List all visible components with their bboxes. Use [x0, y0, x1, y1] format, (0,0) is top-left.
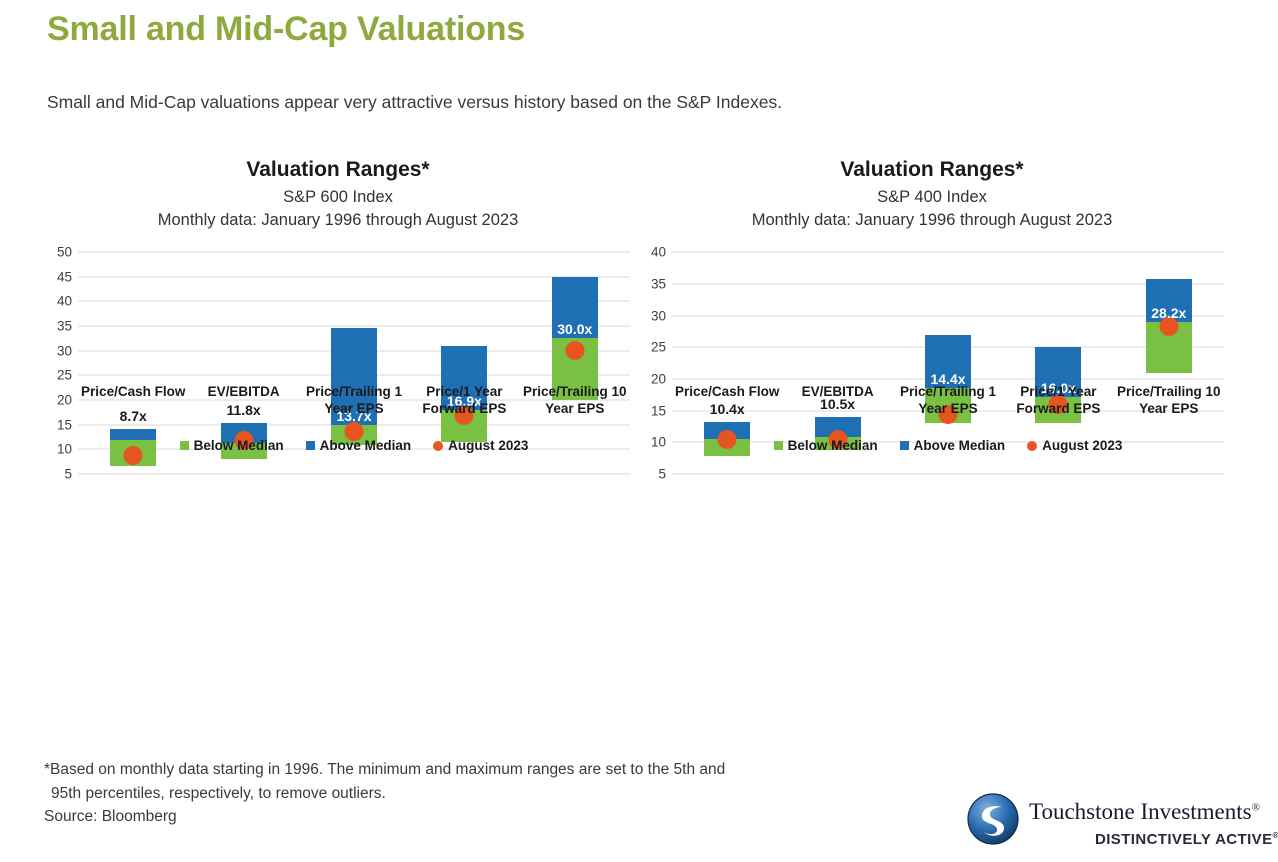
x-axis-label-line: Year EPS	[299, 401, 409, 418]
x-axis-category-label: Price/1 YearForward EPS	[1003, 384, 1113, 418]
legend-square-icon	[180, 441, 189, 450]
x-axis-label-line: Price/Cash Flow	[78, 384, 188, 401]
x-axis-label-line: Year EPS	[1114, 401, 1224, 418]
x-axis-label-line: Price/1 Year	[1003, 384, 1113, 401]
legend-label: Above Median	[914, 438, 1006, 453]
chart-panel-sp600: Valuation Ranges* S&P 600 Index Monthly …	[38, 158, 638, 568]
brand-name-text: Touchstone Investments	[1029, 799, 1252, 824]
y-axis-tick: 20	[651, 371, 666, 386]
y-axis-tick: 15	[651, 403, 666, 418]
x-axis-category-label: Price/1 YearForward EPS	[409, 384, 519, 418]
x-axis-label-line: Price/Trailing 1	[299, 384, 409, 401]
y-axis: 403530252015105	[632, 252, 666, 474]
chart-subtitle-period: Monthly data: January 1996 through Augus…	[632, 211, 1232, 230]
legend-item[interactable]: Above Median	[900, 438, 1006, 453]
touchstone-logo-icon	[967, 793, 1019, 845]
legend-square-icon	[900, 441, 909, 450]
brand-tagline-registered-mark: ®	[1272, 831, 1278, 840]
x-axis-label-line: Price/Cash Flow	[672, 384, 782, 401]
y-axis-tick: 30	[651, 308, 666, 323]
x-axis-label-line: Year EPS	[893, 401, 1003, 418]
chart-legend: Below MedianAbove MedianAugust 2023	[78, 438, 630, 453]
legend-item[interactable]: August 2023	[433, 438, 528, 453]
slide-canvas: Small and Mid-Cap Valuations Small and M…	[0, 0, 1278, 862]
chart-subtitle-index: S&P 400 Index	[632, 188, 1232, 207]
brand-tagline-text: DISTINCTIVELY ACTIVE	[1095, 831, 1272, 848]
chart-legend: Below MedianAbove MedianAugust 2023	[672, 438, 1224, 453]
chart-title: Valuation Ranges*	[632, 158, 1232, 181]
legend-square-icon	[306, 441, 315, 450]
y-axis-tick: 50	[57, 245, 72, 260]
x-axis-label-line: Forward EPS	[409, 401, 519, 418]
x-axis-category-label: Price/Trailing 10Year EPS	[1114, 384, 1224, 418]
legend-label: Above Median	[320, 438, 412, 453]
brand-lockup: Touchstone Investments® DISTINCTIVELY AC…	[967, 793, 1247, 855]
legend-label: August 2023	[448, 438, 528, 453]
y-axis-tick: 40	[57, 294, 72, 309]
x-axis-category-label: EV/EBITDA	[188, 384, 298, 401]
y-axis: 5045403530252015105	[38, 252, 72, 474]
y-axis-tick: 5	[658, 467, 666, 482]
x-axis-label-line: EV/EBITDA	[782, 384, 892, 401]
footnote: *Based on monthly data starting in 1996.…	[44, 758, 725, 806]
x-axis-label-line: EV/EBITDA	[188, 384, 298, 401]
brand-name-registered-mark: ®	[1252, 801, 1260, 813]
x-axis-labels: Price/Cash FlowEV/EBITDAPrice/Trailing 1…	[672, 384, 1224, 432]
x-axis-category-label: EV/EBITDA	[782, 384, 892, 401]
y-axis-tick: 15	[57, 417, 72, 432]
y-axis-tick: 30	[57, 343, 72, 358]
brand-tagline: DISTINCTIVELY ACTIVE®	[1095, 831, 1278, 848]
chart-panel-sp400: Valuation Ranges* S&P 400 Index Monthly …	[632, 158, 1232, 568]
y-axis-tick: 10	[57, 442, 72, 457]
y-axis-tick: 35	[57, 319, 72, 334]
bar-data-label: 30.0x	[557, 321, 592, 337]
x-axis-label-line: Price/Trailing 1	[893, 384, 1003, 401]
y-axis-tick: 25	[651, 340, 666, 355]
x-axis-label-line: Price/Trailing 10	[1114, 384, 1224, 401]
chart-title: Valuation Ranges*	[38, 158, 638, 181]
x-axis-category-label: Price/Trailing 1Year EPS	[299, 384, 409, 418]
chart-subtitle-index: S&P 600 Index	[38, 188, 638, 207]
y-axis-tick: 20	[57, 393, 72, 408]
brand-name: Touchstone Investments®	[1029, 799, 1260, 825]
y-axis-tick: 5	[64, 467, 72, 482]
legend-item[interactable]: Below Median	[774, 438, 878, 453]
legend-label: August 2023	[1042, 438, 1122, 453]
legend-label: Below Median	[788, 438, 878, 453]
y-axis-tick: 25	[57, 368, 72, 383]
y-axis-tick: 40	[651, 245, 666, 260]
legend-item[interactable]: August 2023	[1027, 438, 1122, 453]
x-axis-label-line: Price/1 Year	[409, 384, 519, 401]
source-line: Source: Bloomberg	[44, 808, 177, 826]
x-axis-category-label: Price/Trailing 10Year EPS	[520, 384, 630, 418]
x-axis-category-label: Price/Cash Flow	[672, 384, 782, 401]
legend-item[interactable]: Above Median	[306, 438, 412, 453]
legend-item[interactable]: Below Median	[180, 438, 284, 453]
bar-data-label: 28.2x	[1151, 305, 1186, 321]
x-axis-category-label: Price/Cash Flow	[78, 384, 188, 401]
x-axis-category-label: Price/Trailing 1Year EPS	[893, 384, 1003, 418]
page-title: Small and Mid-Cap Valuations	[47, 10, 525, 49]
x-axis-label-line: Price/Trailing 10	[520, 384, 630, 401]
y-axis-tick: 45	[57, 269, 72, 284]
legend-circle-icon	[1027, 441, 1037, 451]
chart-subtitle-period: Monthly data: January 1996 through Augus…	[38, 211, 638, 230]
legend-label: Below Median	[194, 438, 284, 453]
y-axis-tick: 35	[651, 276, 666, 291]
x-axis-label-line: Forward EPS	[1003, 401, 1113, 418]
x-axis-labels: Price/Cash FlowEV/EBITDAPrice/Trailing 1…	[78, 384, 630, 432]
legend-square-icon	[774, 441, 783, 450]
x-axis-label-line: Year EPS	[520, 401, 630, 418]
august-2023-marker[interactable]	[565, 341, 584, 360]
footnote-line-2: 95th percentiles, respectively, to remov…	[44, 782, 725, 806]
y-axis-tick: 10	[651, 435, 666, 450]
legend-circle-icon	[433, 441, 443, 451]
footnote-line-1: *Based on monthly data starting in 1996.…	[44, 758, 725, 782]
page-subtitle: Small and Mid-Cap valuations appear very…	[47, 92, 782, 113]
